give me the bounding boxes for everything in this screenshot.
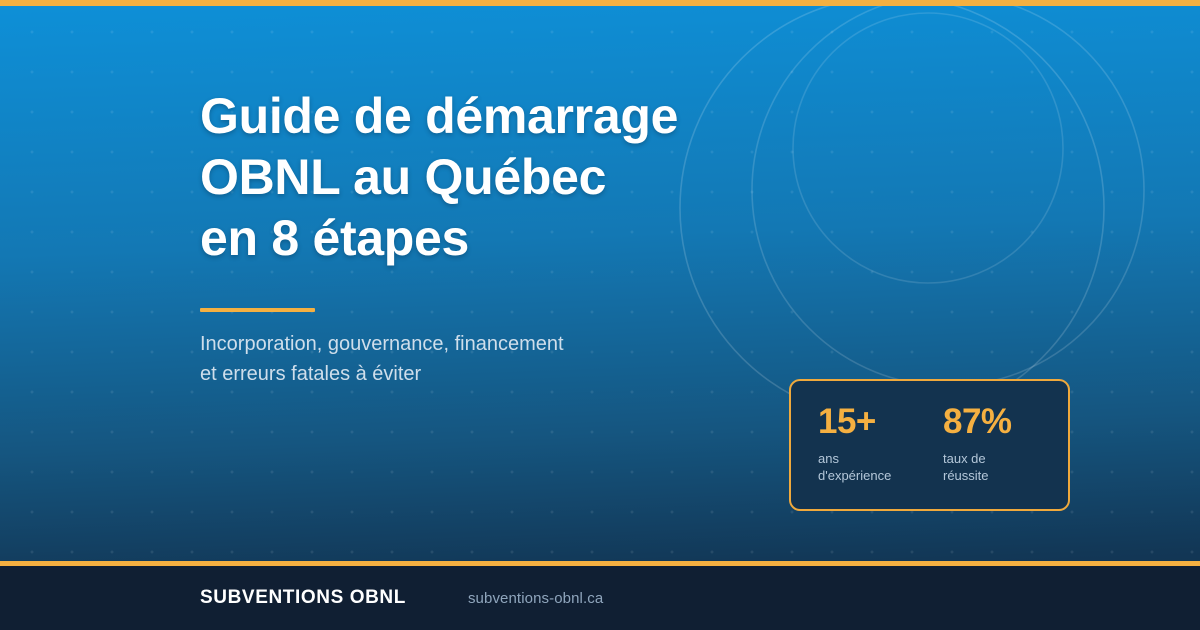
page-subtitle: Incorporation, gouvernance, financement … — [200, 329, 760, 389]
stat-success-rate-label: taux de réussite — [943, 450, 1068, 484]
footer-gold-rule — [0, 561, 1200, 566]
site-url: subventions-obnl.ca — [468, 590, 603, 607]
gold-accent-bar — [200, 308, 315, 312]
stat-experience-value: 15+ — [818, 403, 943, 441]
stat-success-rate-label-line-2: réussite — [943, 467, 1068, 484]
stat-success-rate-label-line-1: taux de — [943, 450, 1068, 467]
stat-success-rate-value: 87% — [943, 403, 1068, 441]
top-gold-rule — [0, 0, 1200, 6]
footer-bar: SUBVENTIONS OBNL subventions-obnl.ca — [0, 566, 1200, 630]
stat-success-rate: 87% taux de réussite — [943, 403, 1068, 484]
stat-experience: 15+ ans d'expérience — [818, 403, 943, 484]
subtitle-line-2: et erreurs fatales à éviter — [200, 359, 760, 389]
footer-content: SUBVENTIONS OBNL subventions-obnl.ca — [200, 566, 603, 630]
og-card: Guide de démarrage OBNL au Québec en 8 é… — [0, 0, 1200, 630]
stat-experience-label: ans d'expérience — [818, 450, 943, 484]
stat-experience-label-line-1: ans — [818, 450, 943, 467]
stats-box: 15+ ans d'expérience 87% taux de réussit… — [789, 379, 1070, 511]
page-title: Guide de démarrage OBNL au Québec en 8 é… — [200, 86, 760, 269]
title-line-2: OBNL au Québec — [200, 147, 760, 208]
hero-content: Guide de démarrage OBNL au Québec en 8 é… — [200, 86, 760, 389]
title-line-1: Guide de démarrage — [200, 86, 760, 147]
stat-experience-label-line-2: d'expérience — [818, 467, 943, 484]
title-line-3: en 8 étapes — [200, 208, 760, 269]
brand-wordmark: SUBVENTIONS OBNL — [200, 587, 406, 609]
subtitle-line-1: Incorporation, gouvernance, financement — [200, 329, 760, 359]
